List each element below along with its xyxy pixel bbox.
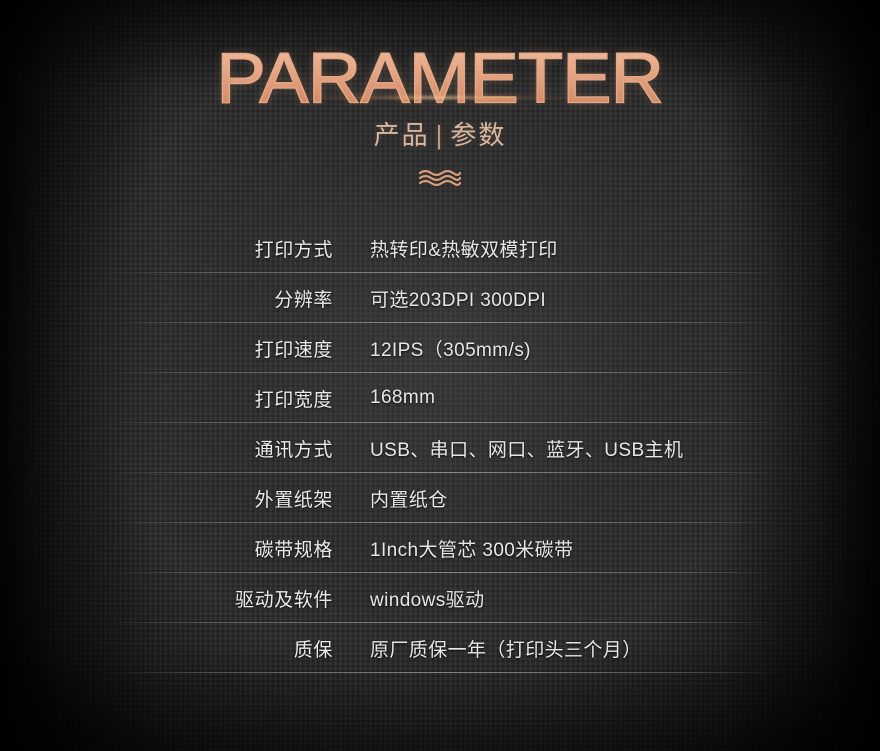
table-row: 碳带规格 1Inch大管芯 300米碳带 — [0, 523, 880, 573]
table-row: 打印宽度 168mm — [0, 373, 880, 423]
specification-table: 打印方式 热转印&热敏双模打印 分辨率 可选203DPI 300DPI 打印速度… — [0, 223, 880, 673]
table-row: 分辨率 可选203DPI 300DPI — [0, 273, 880, 323]
spec-label: 打印速度 — [0, 335, 333, 362]
subtitle-right-text: 参数 — [450, 120, 506, 150]
spec-value: 内置纸仓 — [370, 485, 448, 512]
spec-value: 可选203DPI 300DPI — [370, 285, 546, 312]
table-row: 驱动及软件 windows驱动 — [0, 573, 880, 623]
spec-value: windows驱动 — [370, 585, 484, 612]
subtitle: 产品|参数 — [0, 118, 880, 152]
spec-value: 热转印&热敏双模打印 — [370, 235, 558, 262]
spec-value: 原厂质保一年（打印头三个月） — [370, 635, 642, 662]
wave-divider — [0, 168, 880, 188]
spec-label: 碳带规格 — [0, 535, 333, 562]
spec-label: 打印宽度 — [0, 385, 333, 412]
wave-divider-icon — [417, 168, 463, 188]
spec-value: 1Inch大管芯 300米碳带 — [370, 535, 573, 562]
spec-label: 质保 — [0, 635, 333, 662]
spec-value: 12IPS（305mm/s) — [370, 335, 531, 362]
spec-label: 打印方式 — [0, 235, 333, 262]
product-parameter-banner: PARAMETER 产品|参数 打印方式 热转印&热 — [0, 0, 880, 751]
subtitle-divider-icon: | — [436, 118, 445, 152]
title-wrapper: PARAMETER — [0, 44, 880, 112]
table-row: 打印速度 12IPS（305mm/s) — [0, 323, 880, 373]
spec-label: 外置纸架 — [0, 485, 333, 512]
spec-label: 驱动及软件 — [0, 585, 333, 612]
table-row: 打印方式 热转印&热敏双模打印 — [0, 223, 880, 273]
banner-header: PARAMETER 产品|参数 — [0, 0, 880, 188]
spec-label: 通讯方式 — [0, 435, 333, 462]
table-row: 通讯方式 USB、串口、网口、蓝牙、USB主机 — [0, 423, 880, 473]
spec-value: 168mm — [370, 387, 435, 409]
table-row: 外置纸架 内置纸仓 — [0, 473, 880, 523]
spec-label: 分辨率 — [0, 285, 333, 312]
spec-value: USB、串口、网口、蓝牙、USB主机 — [370, 435, 683, 462]
page-title: PARAMETER — [217, 43, 664, 112]
subtitle-left-text: 产品 — [374, 120, 430, 150]
table-row: 质保 原厂质保一年（打印头三个月） — [0, 623, 880, 673]
